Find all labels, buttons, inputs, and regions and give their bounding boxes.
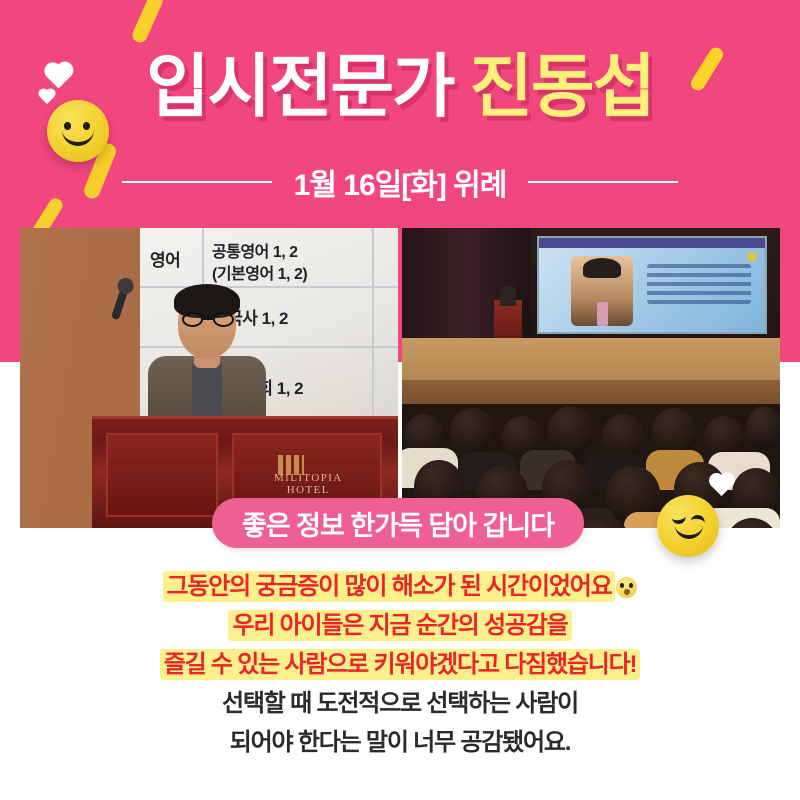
- stage-projection-screen: [537, 236, 767, 334]
- title-speaker-name: 진동섭: [469, 52, 653, 121]
- slide-logo-dot-icon: [747, 252, 757, 262]
- slide-cell-course: 공통영어 1, 2: [212, 238, 298, 262]
- mouth: [62, 128, 94, 146]
- quote-line: 되어야 한다는 말이 너무 공감됐어요.: [0, 724, 800, 763]
- slide-portrait: [571, 256, 633, 326]
- photo-speaker-at-podium: 영어 공통영어 1, 2 (기본영어 1, 2) 한국사 1, 2 통합사회 1…: [20, 228, 398, 528]
- subtitle: 1월 16일[화] 위례: [294, 160, 507, 204]
- quote-text: 우리 아이들은 지금 순간의 성공감을: [228, 610, 571, 641]
- winking-face-icon: [657, 495, 719, 557]
- face-with-open-mouth-icon: [616, 577, 637, 598]
- badge-label: 좋은 정보 한가득 담아 갑니다: [242, 504, 554, 543]
- slide-cell-subject: 영어: [150, 246, 180, 271]
- quote-line: 그동안의 궁금증이 많이 해소가 된 시간이었어요: [0, 568, 800, 607]
- speaker-figure: [148, 284, 266, 424]
- promo-card: 입시전문가진동섭 1월 16일[화] 위례 영어 공통영어 1, 2 (기본영어…: [0, 0, 800, 800]
- title-main: 입시전문가: [146, 52, 453, 121]
- status-badge: 좋은 정보 한가득 담아 갑니다: [212, 498, 584, 548]
- hotel-logo: MILITOPIA HOTEL: [274, 473, 343, 496]
- eye: [671, 514, 686, 525]
- mouth: [675, 525, 703, 539]
- photo-row: 영어 공통영어 1, 2 (기본영어 1, 2) 한국사 1, 2 통합사회 1…: [20, 228, 780, 528]
- quote-text: 선택할 때 도전적으로 선택하는 사람이: [222, 690, 578, 717]
- divider-left: [122, 181, 272, 183]
- slide-cell-course: (기본영어 1, 2): [212, 260, 307, 284]
- quote-text: 되어야 한다는 말이 너무 공감됐어요.: [230, 729, 571, 756]
- quote-text: 즐길 수 있는 사람으로 키워야겠다고 다짐했습니다!: [160, 649, 641, 680]
- divider-right: [528, 181, 678, 183]
- eye: [690, 514, 705, 525]
- quote-block: 그동안의 궁금증이 많이 해소가 된 시간이었어요 우리 아이들은 지금 순간의…: [0, 568, 800, 762]
- quote-line: 즐길 수 있는 사람으로 키워야겠다고 다짐했습니다!: [0, 646, 800, 685]
- subtitle-row: 1월 16일[화] 위례: [0, 160, 800, 204]
- slide-text-block: [647, 264, 751, 304]
- page-title: 입시전문가진동섭: [0, 52, 800, 121]
- quote-line: 선택할 때 도전적으로 선택하는 사람이: [0, 685, 800, 724]
- quote-line: 우리 아이들은 지금 순간의 성공감을: [0, 607, 800, 646]
- quote-text: 그동안의 궁금증이 많이 해소가 된 시간이었어요: [163, 571, 616, 602]
- glasses-icon: [182, 312, 234, 327]
- stage-speaker-figure: [500, 286, 516, 306]
